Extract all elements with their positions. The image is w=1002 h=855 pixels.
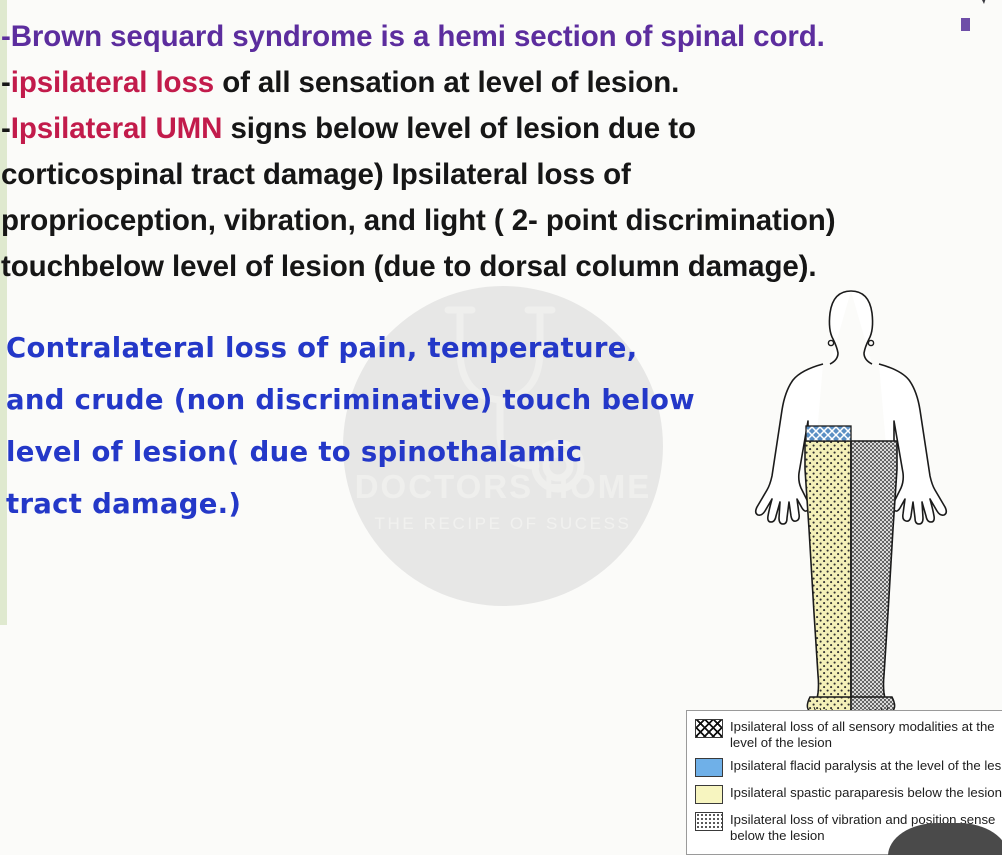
body-line-1: -Brown sequard syndrome is a hemi sectio…: [1, 14, 1002, 60]
body-line-2-seg-1: ipsilateral loss: [11, 66, 214, 99]
anatomy-figure: [700, 283, 1002, 713]
body-line-6-seg-0: touchbelow level of lesion (due to dorsa…: [1, 250, 817, 283]
body-line-4-seg-0: corticospinal tract damage) Ipsilateral …: [1, 158, 631, 191]
legend-item-2: Ipsilateral spastic paraparesis below th…: [695, 784, 1002, 804]
blue-line-3: level of lesion( due to spinothalamic: [6, 426, 766, 478]
slide-canvas: DOCTORS HOME THE RECIPE OF SUCESS -Brown…: [0, 0, 1002, 855]
body-line-2: -ipsilateral loss of all sensation at le…: [1, 60, 1002, 106]
blue-line-4: tract damage.): [6, 478, 766, 530]
top-right-purple-dot: [961, 18, 970, 31]
human-body-diagram: [700, 283, 1002, 713]
legend-swatch-blue: [695, 758, 723, 777]
body-line-3-seg-0: -: [1, 112, 11, 145]
legend-label-2: Ipsilateral spastic paraparesis below th…: [730, 784, 1002, 801]
legend-label-0: Ipsilateral loss of all sensory modaliti…: [730, 718, 995, 750]
body-line-3-seg-1: Ipsilateral UMN: [11, 112, 223, 145]
body-line-4: corticospinal tract damage) Ipsilateral …: [1, 152, 1002, 198]
body-line-5: proprioception, vibration, and light ( 2…: [1, 198, 1002, 244]
body-line-2-seg-2: of all sensation at level of lesion.: [214, 66, 679, 99]
body-line-5-seg-0: proprioception, vibration, and light ( 2…: [1, 204, 835, 237]
body-line-3-seg-2: signs below level of lesion due to: [222, 112, 696, 145]
waist-band-region: [806, 426, 851, 441]
blue-line-2: and crude (non discriminative) touch bel…: [6, 374, 766, 426]
legend-item-1: Ipsilateral flacid paralysis at the leve…: [695, 757, 1002, 777]
blue-text-block: Contralateral loss of pain, temperature,…: [6, 322, 766, 530]
legend-swatch-dotted: [695, 812, 723, 831]
legend-label-1: Ipsilateral flacid paralysis at the leve…: [730, 757, 1002, 774]
body-line-2-seg-0: -: [1, 66, 11, 99]
right-leg-region: [851, 441, 897, 711]
legend-label-0-line1: Ipsilateral loss of all sensory modaliti…: [730, 719, 995, 734]
main-text-block: -Brown sequard syndrome is a hemi sectio…: [0, 14, 1002, 290]
left-leg-region: [805, 441, 851, 711]
legend-swatch-crosshatch: [695, 719, 723, 738]
legend-label-1-line1: Ipsilateral flacid paralysis at the leve…: [730, 758, 1002, 773]
legend-item-0: Ipsilateral loss of all sensory modaliti…: [695, 718, 1002, 750]
legend-swatch-yellow: [695, 785, 723, 804]
legend-label-0-line2: level of the lesion: [730, 735, 995, 751]
blue-line-1: Contralateral loss of pain, temperature,: [6, 322, 766, 374]
legend-label-2-line1: Ipsilateral spastic paraparesis below th…: [730, 785, 1002, 800]
body-line-3: -Ipsilateral UMN signs below level of le…: [1, 106, 1002, 152]
body-line-1-seg-0: -Brown sequard syndrome is a hemi sectio…: [1, 20, 825, 53]
